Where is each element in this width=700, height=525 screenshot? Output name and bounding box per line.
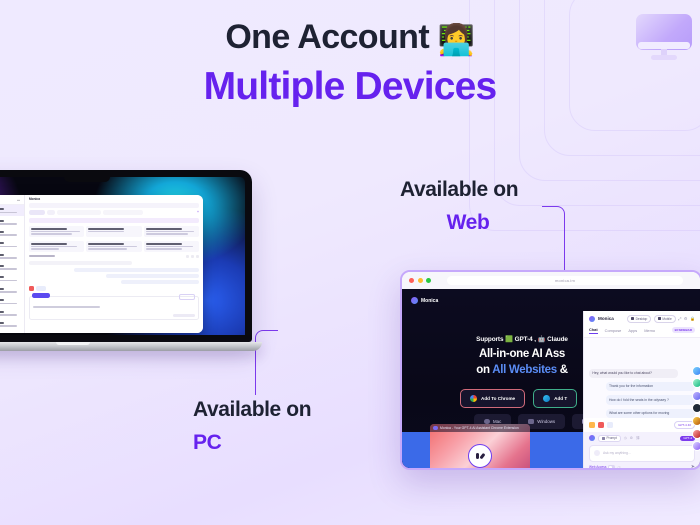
headline-line-2: Multiple Devices: [0, 65, 700, 109]
message-input[interactable]: Ask my anything...: [589, 445, 695, 462]
welcome-message: [29, 261, 132, 265]
chip-filter[interactable]: [103, 210, 143, 215]
avatar: [692, 378, 700, 388]
lock-icon[interactable]: 🔒: [690, 316, 695, 321]
prompt-button[interactable]: Prompt: [598, 435, 621, 443]
new-chat-button[interactable]: [32, 293, 50, 297]
chip-favorite[interactable]: [29, 210, 45, 215]
user-message[interactable]: How do I fold the seats in the odyssey ?: [606, 395, 695, 404]
play-face-button[interactable]: [468, 444, 492, 468]
available-on-pc-label: Available on PC: [193, 398, 311, 455]
windows-label: Windows: [537, 419, 555, 424]
chip-search[interactable]: [57, 210, 101, 215]
browser-viewport: Monica Supports 🟩 GPT-4 , 🤖 Claude All-i…: [402, 289, 700, 468]
feature-cards-row-1: [29, 226, 199, 237]
site-brand[interactable]: Monica: [411, 297, 438, 304]
desktop-toggle[interactable]: Desktop: [627, 315, 651, 323]
avatar: [692, 429, 700, 439]
sidebar-badge: BI SIDEBAR: [672, 327, 695, 333]
panel-title: Monica: [598, 316, 614, 321]
model-chip[interactable]: [36, 286, 46, 291]
feature-card[interactable]: [86, 241, 141, 252]
browser-mockup: monica.im Monica Supports 🟩 GPT-4 , 🤖 Cl…: [400, 270, 700, 470]
info-icon[interactable]: ⓘ: [617, 465, 620, 470]
web-access-label: Web Access: [589, 465, 606, 469]
laptop-screen: Chat Compose Chat ⋯ Monica: [0, 170, 252, 342]
avatar: [692, 416, 700, 426]
chat-list-item[interactable]: [0, 239, 24, 250]
prompt-label: Prompt: [607, 436, 617, 440]
chrome-icon: [470, 395, 477, 402]
add-icon[interactable]: +: [197, 210, 199, 214]
panel-toggles[interactable]: Desktop Mobile ⤢ ⚙ 🔒: [627, 315, 695, 323]
laptop-notch: [64, 177, 110, 182]
hero-title-2-post: &: [557, 364, 568, 376]
pc-label-prefix: Available on: [193, 398, 311, 422]
laptop-base: [0, 342, 262, 351]
refresh-icon[interactable]: [607, 422, 613, 428]
avatar: [692, 366, 700, 376]
agent-avatar-strip[interactable]: [692, 366, 700, 452]
composer-actions[interactable]: [173, 314, 195, 317]
bot-message: Hey, what would you like to chat about?: [589, 369, 678, 378]
tab-chat[interactable]: Chat: [589, 327, 598, 334]
filter-chips[interactable]: +: [25, 208, 203, 217]
feature-card[interactable]: [29, 241, 84, 252]
monica-desktop-app: Chat Compose Chat ⋯ Monica: [0, 195, 203, 333]
message-input-placeholder: Ask my anything...: [603, 451, 631, 455]
chat-main: Monica +: [25, 195, 203, 333]
chat-list-item[interactable]: [0, 273, 24, 284]
expand-icon[interactable]: ⤢: [678, 316, 681, 321]
add-to-chrome-label: Add To Chrome: [481, 396, 515, 401]
add-to-chrome-button[interactable]: Add To Chrome: [460, 389, 525, 408]
chat-list-item[interactable]: [0, 262, 24, 273]
prompt-icon: [602, 437, 605, 440]
chat-main-title: Monica: [25, 195, 203, 203]
pdf-icon[interactable]: [598, 422, 604, 428]
web-access-toggle[interactable]: [608, 465, 615, 469]
monica-logo-icon: [589, 316, 595, 322]
tab-memo[interactable]: Memo: [644, 328, 655, 333]
laptop-mockup: Chat Compose Chat ⋯ Monica: [0, 170, 262, 351]
video-thumbnail[interactable]: Monica - Your GPT-4 AI Assistant Chrome …: [430, 424, 530, 470]
panel-chat-body: Hey, what would you like to chat about? …: [584, 338, 700, 419]
panel-composer: Prompt ◷ ⚙ ⛓ GPT-4 Ask my anything... We…: [584, 432, 700, 470]
avatar: [692, 403, 700, 413]
headline-line-1-text: One Account: [225, 18, 429, 56]
browser-titlebar: monica.im: [402, 272, 700, 289]
promo-canvas: One Account 👩‍💻 Multiple Devices Availab…: [0, 0, 700, 525]
technologist-emoji: 👩‍💻: [438, 24, 475, 57]
composer[interactable]: [29, 296, 199, 320]
feature-card[interactable]: [144, 241, 199, 252]
total-prompts-label: [29, 255, 55, 257]
composer-toolbar[interactable]: Prompt ◷ ⚙ ⛓ GPT-4: [589, 435, 695, 443]
chat-list-item[interactable]: [0, 307, 24, 318]
avatar: [692, 441, 700, 451]
address-bar[interactable]: monica.im: [447, 276, 683, 285]
composer-footer: Web Access ⓘ ➤: [589, 464, 695, 470]
hero-title-1-text: All-in-one AI Ass: [479, 348, 565, 360]
link-icon[interactable]: ⛓: [636, 436, 640, 440]
user-message[interactable]: What are some other options for moving: [606, 409, 695, 418]
monica-logo-icon: [411, 297, 418, 304]
video-title-bar: Monica - Your GPT-4 AI Assistant Chrome …: [430, 424, 530, 432]
promo-banner[interactable]: [29, 218, 199, 223]
mobile-icon: [658, 317, 661, 320]
panel-tabs[interactable]: Chat Compose Apps Memo BI SIDEBAR: [584, 325, 700, 338]
add-to-edge-button[interactable]: Add T: [533, 389, 577, 408]
cta-buttons[interactable]: Add To Chrome Add T: [460, 389, 577, 408]
video-title: Monica - Your GPT-4 AI Assistant Chrome …: [440, 426, 519, 430]
avatar: [692, 391, 700, 401]
pc-label-device: PC: [193, 431, 311, 455]
attachment-row[interactable]: [25, 284, 203, 293]
mic-icon[interactable]: [594, 450, 600, 456]
feature-cards-row-2: [29, 241, 199, 252]
desktop-icon: [631, 317, 634, 320]
web-label-prefix: Available on: [400, 178, 536, 202]
mobile-toggle-label: Mobile: [662, 317, 671, 321]
chat-list-item[interactable]: [0, 216, 24, 227]
add-to-edge-label: Add T: [554, 396, 567, 401]
chat-list-item[interactable]: [0, 296, 24, 307]
image-icon[interactable]: [589, 422, 595, 428]
hero-title-2-pre: on: [476, 364, 492, 376]
web-label-device: Web: [400, 211, 536, 235]
hero-title-2-accent: All Websites: [492, 364, 557, 376]
chat-list-item[interactable]: [0, 251, 24, 262]
feature-card[interactable]: [29, 226, 84, 237]
gear-icon[interactable]: ⚙: [684, 316, 688, 321]
monica-logo-icon: [589, 435, 595, 441]
panel-header: Monica Desktop Mobile ⤢ ⚙ 🔒: [584, 311, 700, 325]
chat-list-item[interactable]: [0, 285, 24, 296]
suggestion-bubble[interactable]: [74, 268, 199, 272]
chat-list-more-icon[interactable]: ⋯: [17, 198, 20, 202]
chat-list-item[interactable]: [0, 228, 24, 239]
suggestion-bubble[interactable]: [106, 274, 199, 278]
edge-icon: [543, 395, 550, 402]
gpt-badge: [179, 294, 195, 300]
panel-tools[interactable]: GPT-4 40: [584, 418, 700, 432]
pdf-icon[interactable]: [29, 286, 34, 291]
pagination[interactable]: [186, 255, 199, 258]
feature-card[interactable]: [144, 226, 199, 237]
composer-placeholder: [33, 306, 100, 308]
mobile-toggle[interactable]: Mobile: [654, 315, 676, 323]
headline-line-1: One Account 👩‍💻: [0, 18, 700, 59]
site-brand-label: Monica: [421, 298, 438, 304]
chat-list-item[interactable]: [0, 205, 24, 216]
tab-apps[interactable]: Apps: [628, 328, 637, 333]
page-title: One Account 👩‍💻 Multiple Devices: [0, 18, 700, 108]
chat-list-header: Chat ⋯: [0, 195, 24, 205]
chat-list-item[interactable]: [0, 319, 24, 330]
monica-side-panel: Monica Desktop Mobile ⤢ ⚙ 🔒: [583, 311, 700, 468]
chat-list[interactable]: Chat ⋯: [0, 195, 25, 333]
video-brand-icon: [433, 426, 438, 431]
available-on-web-label: Available on Web: [400, 178, 536, 235]
send-icon[interactable]: ➤: [691, 464, 695, 470]
clock-icon[interactable]: ◷: [624, 436, 627, 440]
feature-card[interactable]: [86, 226, 141, 237]
gear-icon[interactable]: ⚙: [630, 436, 633, 440]
tab-compose[interactable]: Compose: [605, 328, 622, 333]
chip-all[interactable]: [47, 210, 55, 215]
user-message[interactable]: Thank you for the information: [606, 382, 695, 391]
browser-traffic-lights[interactable]: [409, 278, 431, 283]
desktop-toggle-label: Desktop: [636, 317, 648, 321]
